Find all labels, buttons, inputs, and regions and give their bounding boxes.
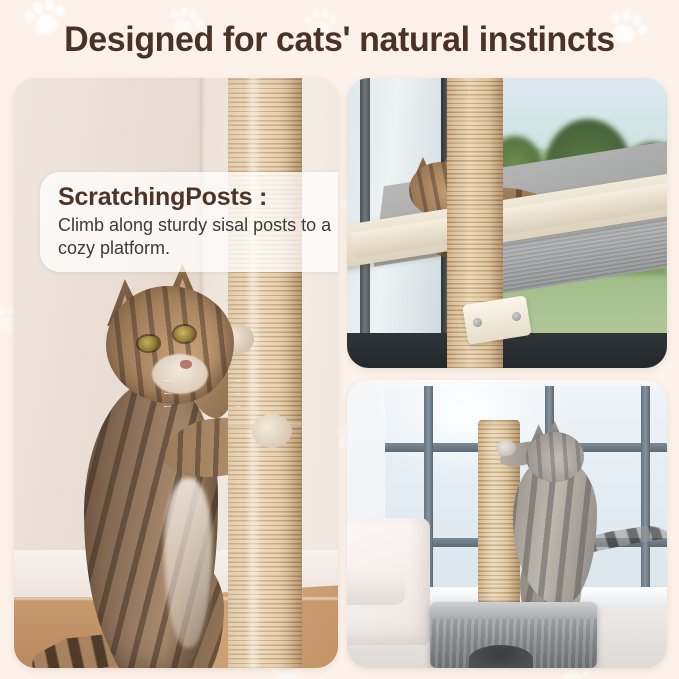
feature-panel-scratching-posts-climb: ScratchingPosts : Climb along sturdy sis…	[14, 78, 338, 668]
cat-eye-right	[174, 326, 195, 342]
callout-colon: :	[252, 183, 267, 211]
plush-base-top	[430, 602, 596, 619]
page-title: Designed for cats' natural instincts	[10, 20, 669, 60]
cat-paw-lower	[252, 414, 292, 448]
base-cave-opening	[469, 645, 533, 668]
armchair-arm	[347, 570, 405, 605]
callout-title: ScratchingPosts :	[58, 183, 338, 211]
scene-cat-climbing-post	[14, 78, 338, 668]
callout-description: Climb along sturdy sisal posts to a cozy…	[58, 214, 338, 259]
cat-head	[526, 432, 584, 482]
feature-panel-scratching-posts-enjoy: ScratchingPosts : Enjoy scratching, reli…	[347, 380, 667, 668]
window-mullion-vertical	[641, 386, 650, 593]
cat-eye-left	[138, 336, 159, 351]
page-header: Designed for cats' natural instincts	[0, 0, 679, 74]
product-feature-page: Designed for cats' natural instincts	[0, 0, 679, 679]
cat-whiskers	[164, 368, 240, 408]
callout-title-text: ScratchingPosts	[58, 183, 252, 211]
scene-cat-on-window-perch	[347, 78, 667, 368]
scene-cat-scratching-post	[347, 380, 667, 668]
callout-scratching-posts-climb: ScratchingPosts : Climb along sturdy sis…	[40, 172, 338, 272]
cat-nose	[180, 360, 192, 369]
sisal-post-highlight	[246, 78, 260, 668]
feature-panel-perches: Perches : Sunbath, observe outdoors	[347, 78, 667, 368]
